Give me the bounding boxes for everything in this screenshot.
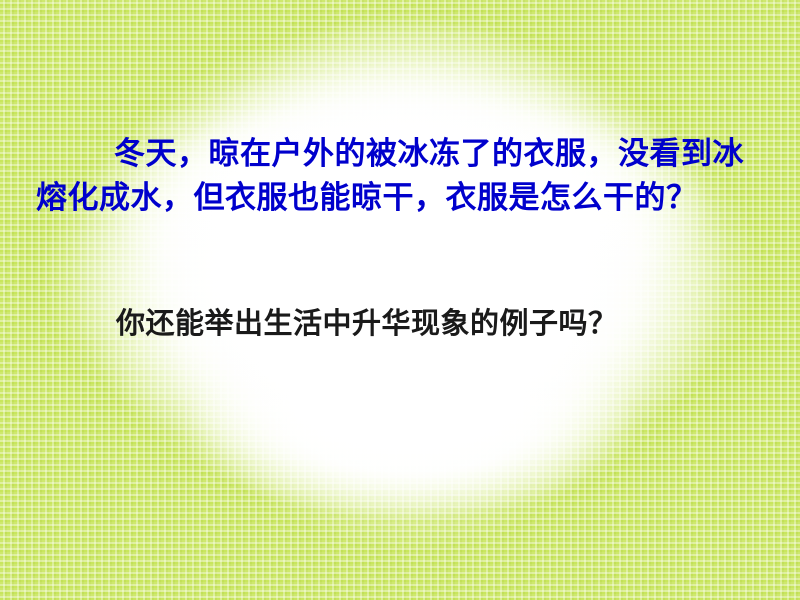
slide-content: 冬天，晾在户外的被冰冻了的衣服，没看到冰熔化成水，但衣服也能晾干，衣服是怎么干的… [0,0,800,600]
presentation-slide: 冬天，晾在户外的被冰冻了的衣服，没看到冰熔化成水，但衣服也能晾干，衣服是怎么干的… [0,0,800,600]
question-secondary-text: 你还能举出生活中升华现象的例子吗？ [36,302,772,344]
question-primary-text: 冬天，晾在户外的被冰冻了的衣服，没看到冰熔化成水，但衣服也能晾干，衣服是怎么干的… [36,132,772,220]
